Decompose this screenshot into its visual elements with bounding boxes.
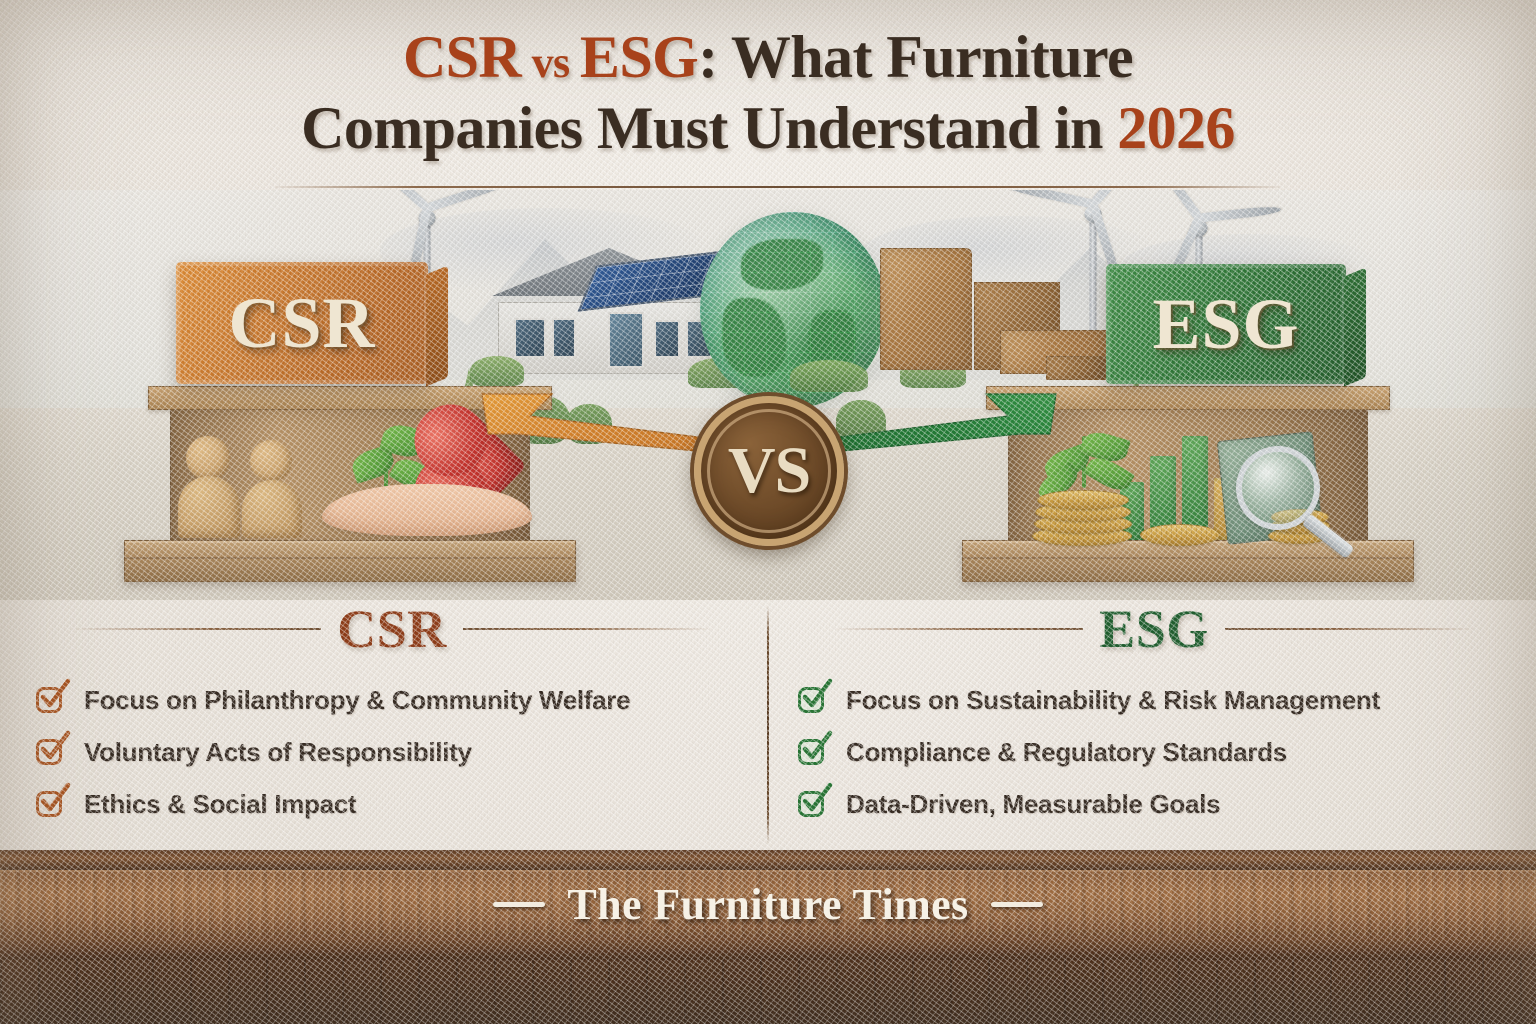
list-item: Focus on Philanthropy & Community Welfar… (36, 674, 762, 726)
wood-wall-panel (0, 960, 1536, 1024)
wood-lip-shadow (0, 938, 1536, 960)
csr-heading: CSR (337, 598, 447, 660)
list-item-label: Data-Driven, Measurable Goals (846, 789, 1220, 820)
csr-wooden-block: CSR (176, 262, 428, 384)
esg-block-label: ESG (1152, 283, 1299, 366)
heading-rule-left (71, 628, 321, 630)
coin-stack-icon (1032, 482, 1138, 546)
illustration-scene: CSR ESG (0, 190, 1536, 600)
esg-heading: ESG (1099, 598, 1209, 660)
checkbox-checked-icon (798, 737, 828, 767)
list-item: Ethics & Social Impact (36, 778, 762, 830)
brand-name: The Furniture Times (567, 879, 968, 930)
wood-top-edge (0, 850, 1536, 870)
esg-wooden-block: ESG (1106, 264, 1346, 384)
brand-dash-right (991, 902, 1043, 907)
list-item-label: Compliance & Regulatory Standards (846, 737, 1287, 768)
solar-house-icon (498, 248, 720, 374)
title-rest-2: Companies Must Understand in (301, 95, 1117, 161)
list-item: Compliance & Regulatory Standards (798, 726, 1524, 778)
column-divider (767, 606, 769, 844)
heading-rule-left (833, 628, 1083, 630)
esg-bullet-list: Focus on Sustainability & Risk Managemen… (784, 674, 1524, 830)
wooden-box-icon (1046, 356, 1106, 380)
esg-column: ESG Focus on Sustainability & Risk Manag… (784, 598, 1524, 830)
coin-icon (1140, 524, 1220, 546)
csr-bullet-list: Focus on Philanthropy & Community Welfar… (22, 674, 762, 830)
list-item: Data-Driven, Measurable Goals (798, 778, 1524, 830)
title-vs: vs (521, 38, 580, 87)
checkbox-checked-icon (36, 685, 66, 715)
title-line-2: Companies Must Understand in 2026 (0, 93, 1536, 164)
brand-dash-left (493, 902, 545, 907)
esg-heading-row: ESG (784, 598, 1524, 660)
checkbox-checked-icon (36, 737, 66, 767)
heading-rule-right (1225, 628, 1475, 630)
infographic-canvas: CSR vs ESG: What Furniture Companies Mus… (0, 0, 1536, 1024)
title-accent-csr: CSR (403, 24, 521, 90)
csr-column: CSR Focus on Philanthropy & Community We… (22, 598, 762, 830)
title-underline-rule (275, 186, 1280, 188)
list-item: Voluntary Acts of Responsibility (36, 726, 762, 778)
list-item-label: Ethics & Social Impact (84, 789, 356, 820)
checkbox-checked-icon (798, 685, 828, 715)
csr-heading-row: CSR (22, 598, 762, 660)
title-accent-esg: ESG (580, 24, 698, 90)
shrub-shape (470, 356, 524, 386)
title-block: CSR vs ESG: What Furniture Companies Mus… (0, 22, 1536, 165)
brand-row: The Furniture Times (0, 870, 1536, 938)
list-item-label: Focus on Philanthropy & Community Welfar… (84, 685, 630, 716)
wooden-footer-bar: The Furniture Times (0, 850, 1536, 1024)
versus-label: VS (728, 433, 810, 509)
title-line-1: CSR vs ESG: What Furniture (0, 22, 1536, 93)
title-rest-1: : What Furniture (698, 24, 1133, 90)
wooden-cabinet-icon (880, 248, 972, 370)
list-item: Focus on Sustainability & Risk Managemen… (798, 674, 1524, 726)
list-item-label: Voluntary Acts of Responsibility (84, 737, 472, 768)
heading-rule-right (463, 628, 713, 630)
versus-badge: VS (694, 396, 844, 546)
magnifying-glass-icon (1236, 446, 1366, 556)
comparison-panel: CSR Focus on Philanthropy & Community We… (0, 598, 1536, 850)
checkbox-checked-icon (798, 789, 828, 819)
csr-block-label: CSR (228, 282, 375, 365)
checkbox-checked-icon (36, 789, 66, 819)
title-accent-year: 2026 (1117, 95, 1235, 161)
list-item-label: Focus on Sustainability & Risk Managemen… (846, 685, 1380, 716)
